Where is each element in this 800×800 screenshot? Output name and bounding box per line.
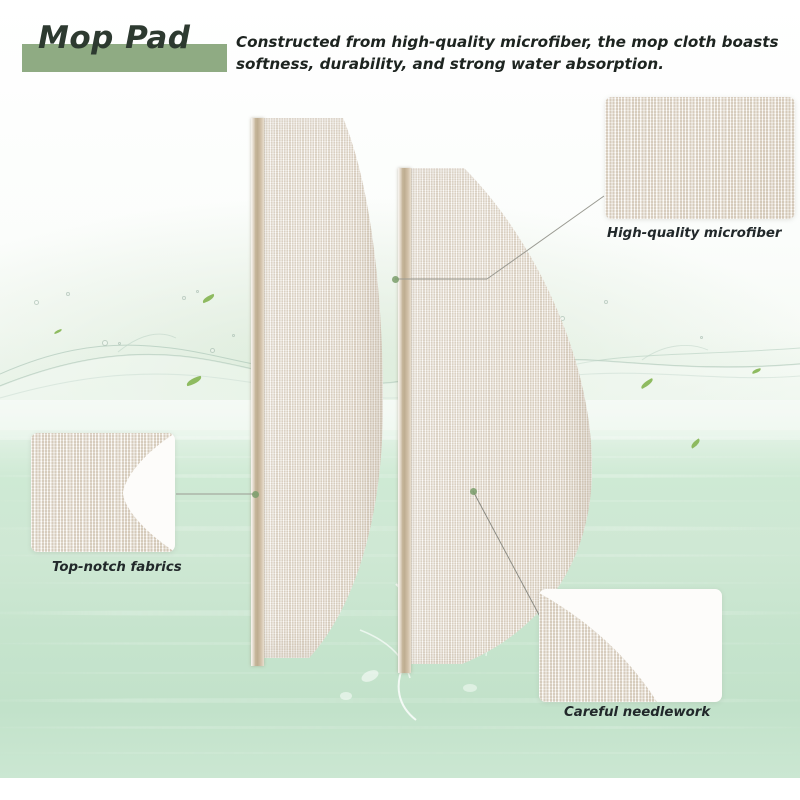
product-infographic: High-quality microfiber Top-notch fabric… [0,0,800,800]
leader-anchor-dot-needlework [470,488,477,495]
mop-pad-left [243,118,383,658]
needlework-closeup-inset [539,589,722,702]
product-description: Constructed from high-quality microfiber… [236,32,781,75]
water-streak [0,752,800,754]
bubble-icon [700,336,703,339]
bubble-icon [604,300,608,304]
mop-pad-right-binding-highlight [398,168,402,673]
page-title: Mop Pad [38,20,268,56]
callout-label-fabrics: Top-notch fabrics [52,560,182,575]
needlework-texture [539,589,722,702]
bubble-icon [232,334,235,337]
bottom-white-band [0,778,800,800]
microfiber-closeup-inset [605,97,795,219]
callout-label-microfiber: High-quality microfiber [607,226,781,241]
bubble-icon [102,340,108,346]
bubble-icon [182,296,186,300]
bubble-icon [196,290,199,293]
bubble-icon [34,300,39,305]
leader-anchor-dot-microfiber [392,276,399,283]
bubble-icon [210,348,215,353]
mop-pad-left-binding-highlight [251,118,255,666]
fabric-notch-closeup-inset [31,433,175,552]
mop-pad-left-fabric [257,118,383,658]
title-block: Mop Pad [22,20,232,72]
bubble-icon [66,292,70,296]
bubble-icon [118,342,121,345]
fabric-notch-texture [31,433,175,552]
callout-label-needlework: Careful needlework [564,705,710,720]
microfiber-texture [605,97,795,219]
leader-anchor-dot-fabrics [252,491,259,498]
